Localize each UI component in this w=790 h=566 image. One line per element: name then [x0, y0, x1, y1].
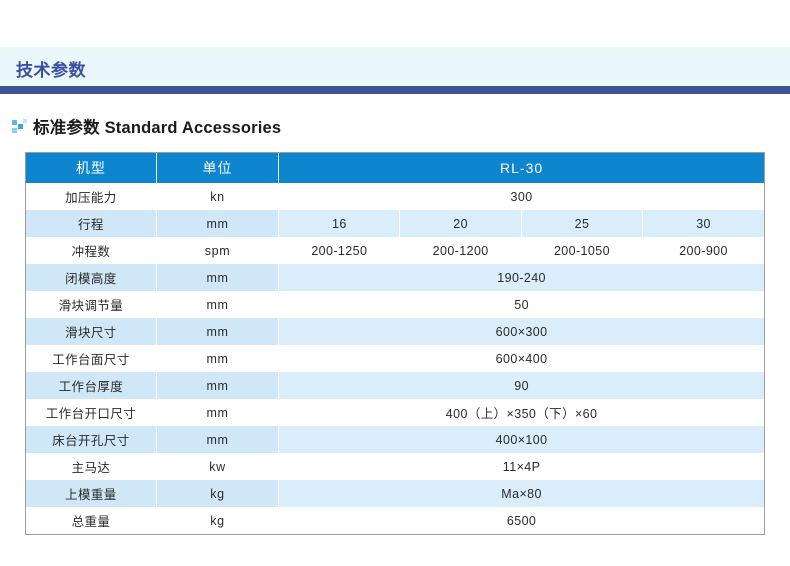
cell-parameter-name: 总重量: [26, 507, 156, 534]
cell-parameter-name: 床台开孔尺寸: [26, 426, 156, 453]
spec-table: 机型 单位 RL-30 加压能力kn300行程mm16202530冲程数spm2…: [26, 153, 764, 534]
cell-unit: mm: [156, 291, 278, 318]
banner-rule: [0, 86, 790, 94]
cell-value: 30: [643, 210, 764, 237]
arrow-right-pixel-icon: [12, 119, 29, 134]
table-row: 工作台面尺寸mm600×400: [26, 345, 764, 372]
table-row: 总重量kg6500: [26, 507, 764, 534]
cell-value: 20: [400, 210, 521, 237]
table-row: 滑块尺寸mm600×300: [26, 318, 764, 345]
table-header-row: 机型 单位 RL-30: [26, 153, 764, 183]
cell-unit: mm: [156, 426, 278, 453]
table-row: 加压能力kn300: [26, 183, 764, 210]
cell-value: 400（上）×350（下）×60: [279, 399, 764, 426]
cell-parameter-name: 行程: [26, 210, 156, 237]
cell-value: 50: [279, 291, 764, 318]
section-heading: 标准参数 Standard Accessories: [12, 113, 281, 139]
cell-value: 200-1250: [279, 237, 400, 264]
column-header-unit: 单位: [156, 153, 278, 183]
table-row: 工作台开口尺寸mm400（上）×350（下）×60: [26, 399, 764, 426]
column-header-model: RL-30: [279, 153, 764, 183]
cell-unit: mm: [156, 318, 278, 345]
cell-parameter-name: 闭模高度: [26, 264, 156, 291]
cell-unit: spm: [156, 237, 278, 264]
cell-value: 190-240: [279, 264, 764, 291]
cell-parameter-name: 加压能力: [26, 183, 156, 210]
cell-parameter-name: 冲程数: [26, 237, 156, 264]
cell-value: 90: [279, 372, 764, 399]
cell-value: 200-900: [643, 237, 764, 264]
cell-value: 400×100: [279, 426, 764, 453]
section-heading-label: 标准参数 Standard Accessories: [33, 114, 281, 138]
column-header-name: 机型: [26, 153, 156, 183]
table-row: 工作台厚度mm90: [26, 372, 764, 399]
cell-unit: kw: [156, 453, 278, 480]
cell-unit: kg: [156, 480, 278, 507]
cell-parameter-name: 主马达: [26, 453, 156, 480]
cell-value: 200-1200: [400, 237, 521, 264]
cell-parameter-name: 滑块调节量: [26, 291, 156, 318]
table-row: 行程mm16202530: [26, 210, 764, 237]
cell-unit: mm: [156, 399, 278, 426]
cell-unit: mm: [156, 264, 278, 291]
cell-parameter-name: 工作台开口尺寸: [26, 399, 156, 426]
cell-value: 600×400: [279, 345, 764, 372]
cell-value: 6500: [279, 507, 764, 534]
cell-unit: mm: [156, 372, 278, 399]
cell-value: 16: [279, 210, 400, 237]
cell-unit: mm: [156, 210, 278, 237]
cell-value: Ma×80: [279, 480, 764, 507]
cell-unit: mm: [156, 345, 278, 372]
cell-value: 600×300: [279, 318, 764, 345]
spec-table-container: 机型 单位 RL-30 加压能力kn300行程mm16202530冲程数spm2…: [25, 152, 765, 535]
table-row: 冲程数spm200-1250200-1200200-1050200-900: [26, 237, 764, 264]
cell-parameter-name: 滑块尺寸: [26, 318, 156, 345]
cell-value: 200-1050: [521, 237, 642, 264]
cell-parameter-name: 工作台厚度: [26, 372, 156, 399]
cell-value: 11×4P: [279, 453, 764, 480]
cell-unit: kn: [156, 183, 278, 210]
cell-value: 300: [279, 183, 764, 210]
cell-parameter-name: 工作台面尺寸: [26, 345, 156, 372]
cell-parameter-name: 上模重量: [26, 480, 156, 507]
table-row: 闭模高度mm190-240: [26, 264, 764, 291]
table-row: 床台开孔尺寸mm400×100: [26, 426, 764, 453]
cell-unit: kg: [156, 507, 278, 534]
page-title: 技术参数: [16, 56, 86, 81]
table-row: 滑块调节量mm50: [26, 291, 764, 318]
page-banner: 技术参数: [0, 47, 790, 86]
cell-value: 25: [521, 210, 642, 237]
table-row: 主马达kw11×4P: [26, 453, 764, 480]
table-row: 上模重量kgMa×80: [26, 480, 764, 507]
